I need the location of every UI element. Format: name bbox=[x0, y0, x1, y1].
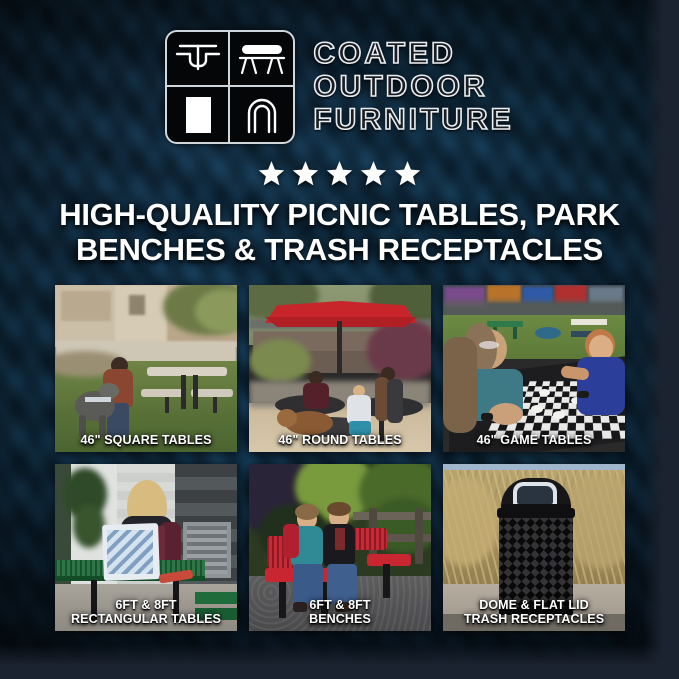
headline-line-1: HIGH-QUALITY PICNIC TABLES, PARK bbox=[59, 197, 619, 232]
tile-caption-line-1: DOME & FLAT LID bbox=[479, 598, 589, 612]
logo-word-outdoor: OUTDOOR bbox=[313, 71, 513, 103]
tile-caption-line-2: BENCHES bbox=[253, 613, 427, 627]
logo-word-coated: COATED bbox=[313, 38, 513, 70]
promo-banner: COATED OUTDOOR FURNITURE HIGH-QUALITY PI… bbox=[0, 0, 679, 679]
tile-caption: DOME & FLAT LID TRASH RECEPTACLES bbox=[443, 599, 625, 626]
logo-icon-grid bbox=[165, 30, 295, 144]
tile-caption-line-1: 6FT & 8FT bbox=[309, 598, 370, 612]
scene-round-tables bbox=[249, 285, 431, 452]
tile-caption-line-2: TRASH RECEPTACLES bbox=[447, 613, 621, 627]
bike-rack-arch-icon bbox=[230, 87, 293, 142]
scene-square-tables bbox=[55, 285, 237, 452]
tile-caption-line-2: RECTANGULAR TABLES bbox=[59, 613, 233, 627]
product-tile-round-tables[interactable]: 46" ROUND TABLES bbox=[249, 285, 431, 452]
star-rating bbox=[0, 156, 679, 190]
trash-receptacle-icon bbox=[167, 87, 230, 142]
logo-wordmark: COATED OUTDOOR FURNITURE bbox=[313, 38, 513, 135]
star-icon bbox=[394, 160, 421, 187]
star-icon bbox=[326, 160, 353, 187]
product-grid: 46" SQUARE TABLES bbox=[55, 285, 625, 631]
tile-caption-line-1: 46" GAME TABLES bbox=[477, 433, 592, 447]
tile-caption-line-1: 46" SQUARE TABLES bbox=[80, 433, 211, 447]
scene-game-tables bbox=[443, 285, 625, 452]
logo-word-furniture: FURNITURE bbox=[313, 104, 513, 136]
star-icon bbox=[292, 160, 319, 187]
product-tile-trash-receptacles[interactable]: DOME & FLAT LID TRASH RECEPTACLES bbox=[443, 464, 625, 631]
tile-caption: 46" ROUND TABLES bbox=[249, 434, 431, 448]
tile-caption: 46" SQUARE TABLES bbox=[55, 434, 237, 448]
page-title: HIGH-QUALITY PICNIC TABLES, PARK BENCHES… bbox=[0, 198, 679, 267]
star-icon bbox=[258, 160, 285, 187]
tile-caption-line-1: 46" ROUND TABLES bbox=[278, 433, 401, 447]
brand-logo: COATED OUTDOOR FURNITURE bbox=[0, 28, 679, 146]
tile-caption: 46" GAME TABLES bbox=[443, 434, 625, 448]
star-icon bbox=[360, 160, 387, 187]
tile-caption-line-1: 6FT & 8FT bbox=[115, 598, 176, 612]
headline-line-2: BENCHES & TRASH RECEPTACLES bbox=[0, 233, 679, 268]
product-tile-benches[interactable]: 6FT & 8FT BENCHES bbox=[249, 464, 431, 631]
product-tile-game-tables[interactable]: 46" GAME TABLES bbox=[443, 285, 625, 452]
product-tile-square-tables[interactable]: 46" SQUARE TABLES bbox=[55, 285, 237, 452]
picnic-table-icon bbox=[167, 32, 230, 87]
product-tile-rectangular-tables[interactable]: 6FT & 8FT RECTANGULAR TABLES bbox=[55, 464, 237, 631]
tile-caption: 6FT & 8FT BENCHES bbox=[249, 599, 431, 626]
bench-icon bbox=[230, 32, 293, 87]
tile-caption: 6FT & 8FT RECTANGULAR TABLES bbox=[55, 599, 237, 626]
